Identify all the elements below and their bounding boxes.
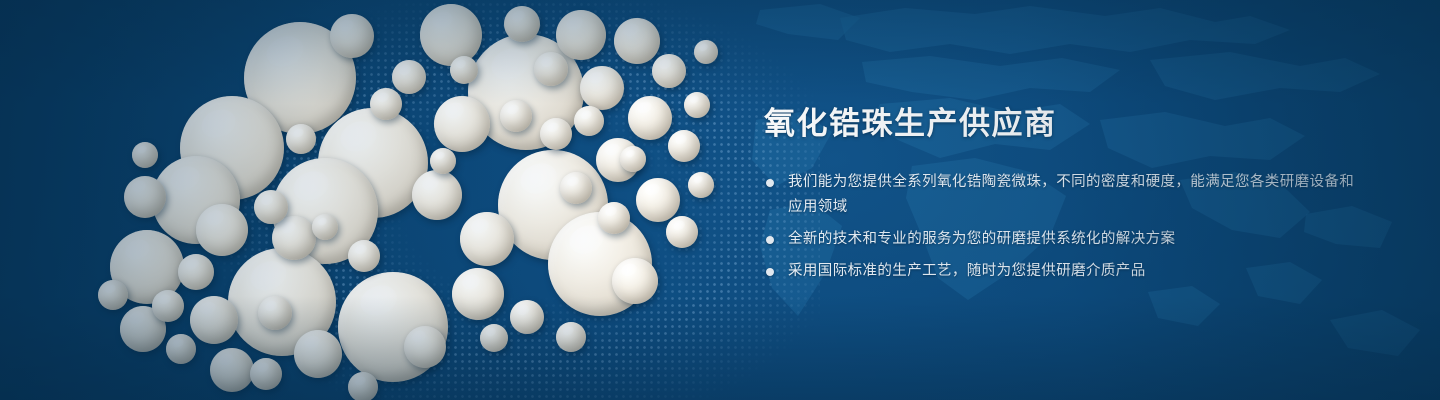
banner-vignette <box>0 0 1440 400</box>
hero-banner: 氧化锆珠生产供应商 我们能为您提供全系列氧化锆陶瓷微珠，不同的密度和硬度，能满足… <box>0 0 1440 400</box>
